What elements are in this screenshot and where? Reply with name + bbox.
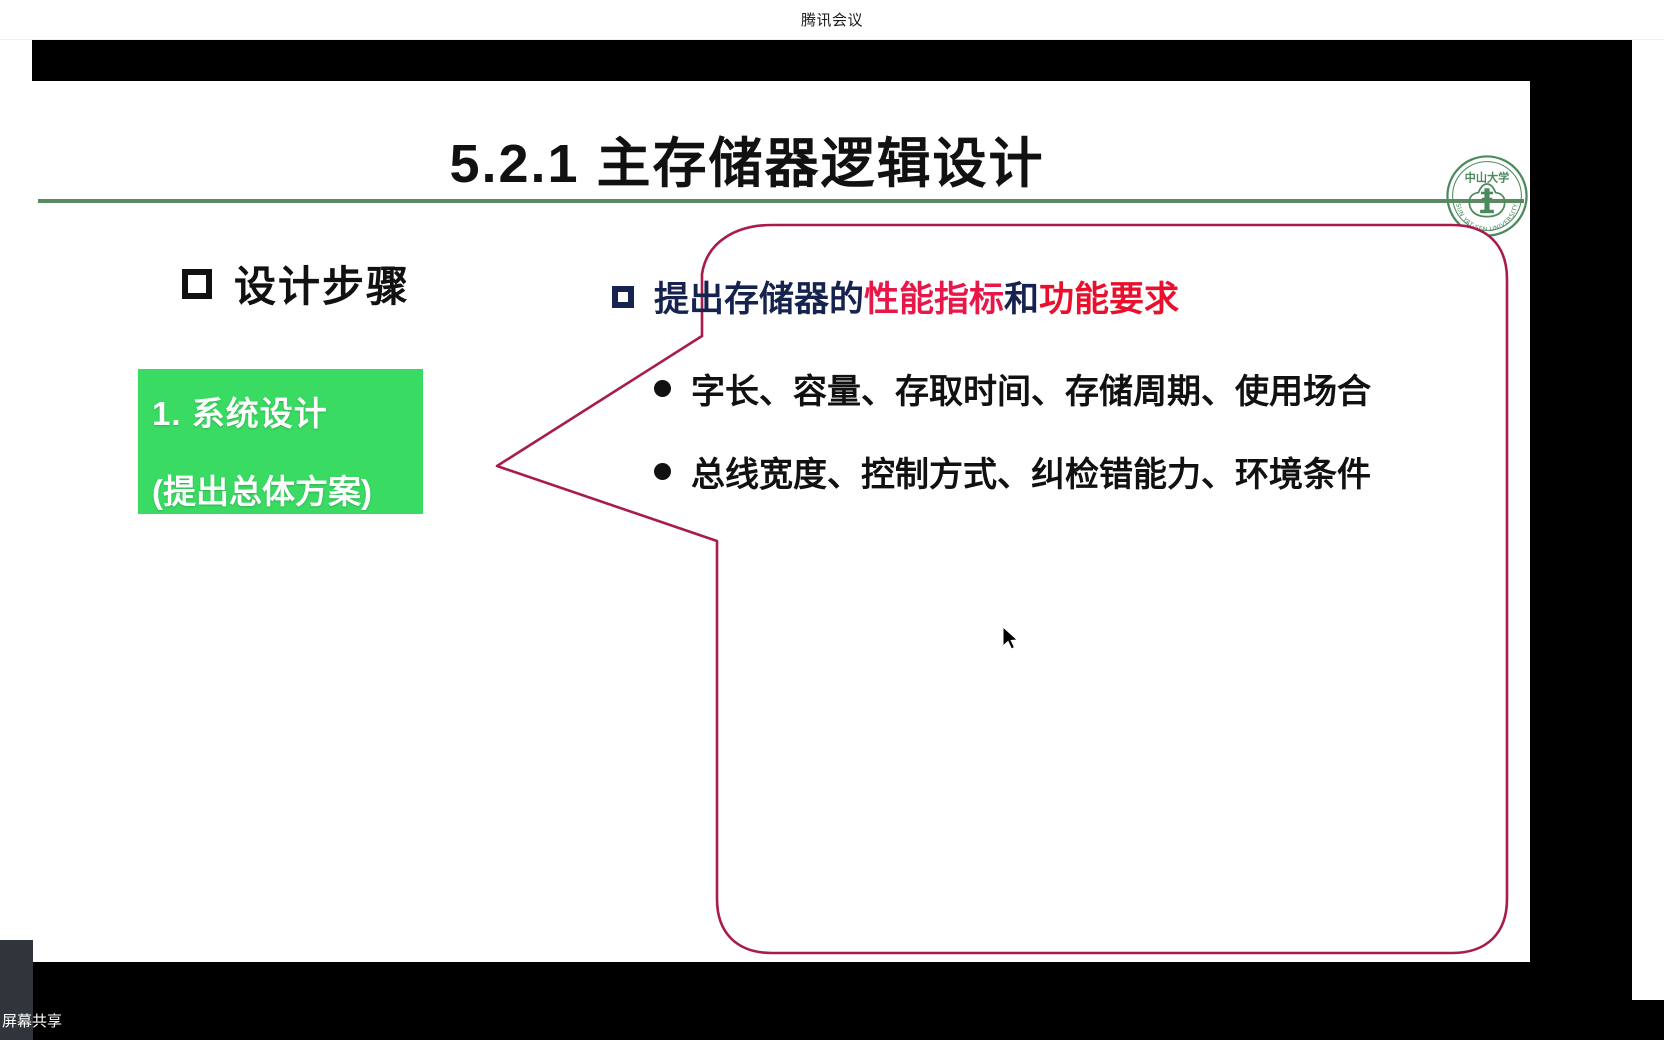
callout-heading-part2: 性能指标 [864, 280, 1004, 319]
step-box-line-2: (提出总体方案) [152, 465, 409, 513]
round-bullet-icon [654, 380, 671, 397]
callout-bullet-1-text: 字长、容量、存取时间、存储周期、使用场合 [691, 364, 1371, 413]
callout-heading: 提出存储器的性能指标和功能要求 [606, 271, 1496, 322]
callout-heading-part1: 提出存储器的 [654, 280, 864, 319]
presentation-slide: 5.2.1 主存储器逻辑设计 中山大学 [32, 81, 1530, 962]
square-bullet-blue-icon [612, 286, 634, 308]
callout-bullet-2-text: 总线宽度、控制方式、纠检错能力、环境条件 [691, 447, 1371, 496]
mouse-cursor-icon [1002, 626, 1020, 652]
square-bullet-icon [182, 269, 212, 299]
bottom-taskbar [0, 1000, 1664, 1040]
shared-screen-stage[interactable]: 5.2.1 主存储器逻辑设计 中山大学 [32, 40, 1632, 1000]
callout-bullet-2: 总线宽度、控制方式、纠检错能力、环境条件 [654, 447, 1496, 496]
window-title: 腾讯会议 [801, 9, 863, 30]
title-divider-rule [38, 199, 1524, 203]
callout-content: 提出存储器的性能指标和功能要求 字长、容量、存取时间、存储周期、使用场合 总线宽… [606, 271, 1496, 496]
round-bullet-icon [654, 463, 671, 480]
callout-heading-part4: 功能要求 [1039, 280, 1179, 319]
system-design-step-box[interactable]: 1. 系统设计 (提出总体方案) [138, 369, 423, 514]
university-seal-logo: 中山大学 [1444, 153, 1530, 239]
screen-share-label[interactable]: 屏幕共享 [2, 1010, 62, 1031]
svg-text:中山大学: 中山大学 [1465, 170, 1510, 184]
right-letterbox-strip [1632, 40, 1664, 1000]
design-steps-heading-text: 设计步骤 [234, 253, 410, 314]
screen-share-window: 腾讯会议 5.2.1 主存储器逻辑设计 中山大学 [0, 0, 1664, 1040]
left-letterbox-strip [0, 40, 32, 1000]
callout-heading-part3: 和 [1004, 280, 1039, 319]
step-box-line-1: 1. 系统设计 [152, 387, 409, 435]
callout-bullet-1: 字长、容量、存取时间、存储周期、使用场合 [654, 364, 1496, 413]
design-steps-heading: 设计步骤 [182, 253, 410, 314]
window-titlebar: 腾讯会议 [0, 0, 1664, 40]
slide-title: 5.2.1 主存储器逻辑设计 [32, 119, 1462, 198]
